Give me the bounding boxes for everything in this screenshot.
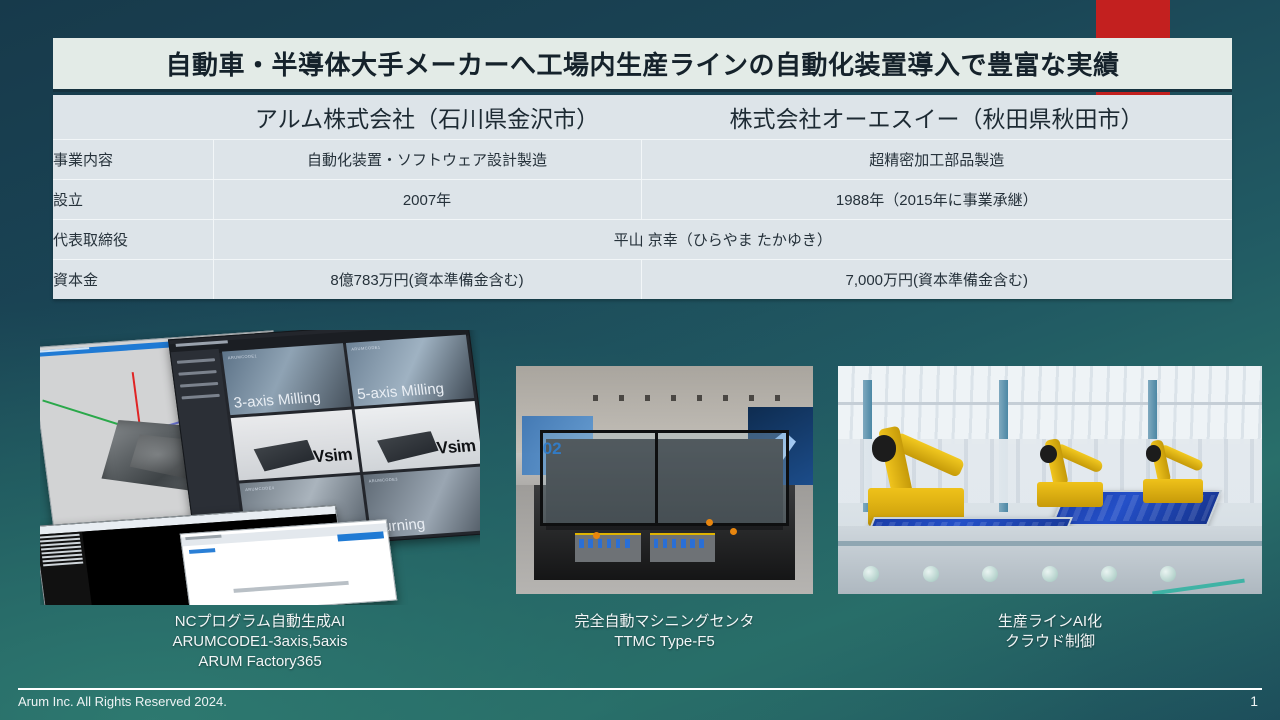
header-blank-cell: [53, 95, 213, 139]
table-header-row: アルム株式会社（石川県金沢市） 株式会社オーエスイー（秋田県秋田市）: [53, 95, 1232, 139]
row-value-left: 8億783万円(資本準備金含む): [213, 259, 641, 299]
slide-root: 自動車・半導体大手メーカーへ工場内生産ラインの自動化装置導入で豊富な実績 アルム…: [0, 0, 1280, 720]
machine-number-label: 02: [543, 439, 562, 459]
caption-line: 完全自動マシニングセンタ: [516, 612, 813, 632]
row-value-right: 1988年（2015年に事業承継）: [641, 179, 1232, 219]
conveyor-line: [838, 526, 1262, 594]
company-comparison-table: アルム株式会社（石川県金沢市） 株式会社オーエスイー（秋田県秋田市） 事業内容 …: [53, 95, 1232, 299]
page-title: 自動車・半導体大手メーカーへ工場内生産ラインの自動化装置導入で豊富な実績: [165, 45, 1119, 82]
caption-robot-line: 生産ラインAI化 クラウド制御: [838, 612, 1262, 652]
tile-title: Vsim: [312, 445, 353, 468]
caption-line: ARUM Factory365: [40, 652, 480, 672]
tile-vsim-5axis[interactable]: Vsim: [354, 401, 480, 473]
table-row: 資本金 8億783万円(資本準備金含む) 7,000万円(資本準備金含む): [53, 259, 1232, 299]
tile-vsim-3axis[interactable]: Vsim: [231, 409, 360, 481]
row-value-right: 超精密加工部品製造: [641, 139, 1232, 179]
conveyor-rail: [838, 541, 1262, 546]
row-label: 代表取締役: [53, 219, 213, 259]
amber-indicator: [706, 519, 713, 526]
footer-divider: [18, 688, 1262, 690]
tile-5axis-milling[interactable]: ARUMCODE1 5-axis Milling: [345, 335, 474, 407]
caption-line: NCプログラム自動生成AI: [40, 612, 480, 632]
machine-safety-enclosure: [540, 430, 789, 526]
tool-magazine-row: [650, 533, 715, 562]
photo-machining-center: 02: [516, 366, 813, 594]
company-header-left: アルム株式会社（石川県金沢市）: [213, 95, 641, 139]
caption-line: ARUMCODE1-3axis,5axis: [40, 632, 480, 652]
amber-indicator: [730, 528, 737, 535]
row-value-merged: 平山 京幸（ひらやま たかゆき）: [213, 219, 1232, 259]
tile-tag: ARUMCODE1: [228, 353, 258, 360]
row-label: 資本金: [53, 259, 213, 299]
robot-arm: [868, 416, 964, 526]
caption-software-collage: NCプログラム自動生成AI ARUMCODE1-3axis,5axis ARUM…: [40, 612, 480, 671]
page-number: 1: [1250, 693, 1258, 709]
caption-line: 生産ラインAI化: [838, 612, 1262, 632]
caption-line: TTMC Type-F5: [516, 632, 813, 652]
robot-arm: [1037, 431, 1103, 507]
footer-copyright: Arum Inc. All Rights Reserved 2024.: [18, 694, 227, 709]
robot-arm: [1143, 433, 1203, 503]
row-value-right: 7,000万円(資本準備金含む): [641, 259, 1232, 299]
sidebar-item[interactable]: [178, 370, 216, 376]
tile-title: 3-axis Milling: [233, 391, 322, 411]
title-banner: 自動車・半導体大手メーカーへ工場内生産ラインの自動化装置導入で豊富な実績: [53, 38, 1232, 92]
table-row: 設立 2007年 1988年（2015年に事業承継）: [53, 179, 1232, 219]
row-value-left: 自動化装置・ソフトウェア設計製造: [213, 139, 641, 179]
table-row: 代表取締役 平山 京幸（ひらやま たかゆき）: [53, 219, 1232, 259]
row-label: 事業内容: [53, 139, 213, 179]
caption-line: クラウド制御: [838, 632, 1262, 652]
tile-3axis-milling[interactable]: ARUMCODE1 3-axis Milling: [222, 343, 351, 415]
tile-title: 5-axis Milling: [356, 383, 445, 403]
company-header-right: 株式会社オーエスイー（秋田県秋田市）: [641, 95, 1232, 139]
wall-dot-row: [593, 395, 801, 401]
row-value-left: 2007年: [213, 179, 641, 219]
photo-software-collage: ARUMCODE1 3-axis Milling ARUMCODE1 5-axi…: [40, 330, 480, 605]
factory365-tag: [189, 548, 216, 554]
tile-tag: ARUMCODE1: [351, 345, 381, 352]
sidebar-item[interactable]: [180, 382, 218, 388]
factory365-window: [180, 519, 398, 605]
caption-machining-center: 完全自動マシニングセンタ TTMC Type-F5: [516, 612, 813, 652]
factory365-progress: [234, 581, 349, 593]
code-line: [43, 562, 83, 567]
photo-robot-production-line: [838, 366, 1262, 594]
row-label: 設立: [53, 179, 213, 219]
tile-tag: ARUMCODE3: [368, 477, 398, 484]
tile-tag: ARUMCODE4: [245, 485, 275, 492]
table-row: 事業内容 自動化装置・ソフトウェア設計製造 超精密加工部品製造: [53, 139, 1232, 179]
sidebar-item[interactable]: [177, 358, 215, 364]
tile-title: Vsim: [436, 436, 477, 459]
tool-magazine-row: [575, 533, 640, 562]
sidebar-item[interactable]: [181, 394, 219, 400]
